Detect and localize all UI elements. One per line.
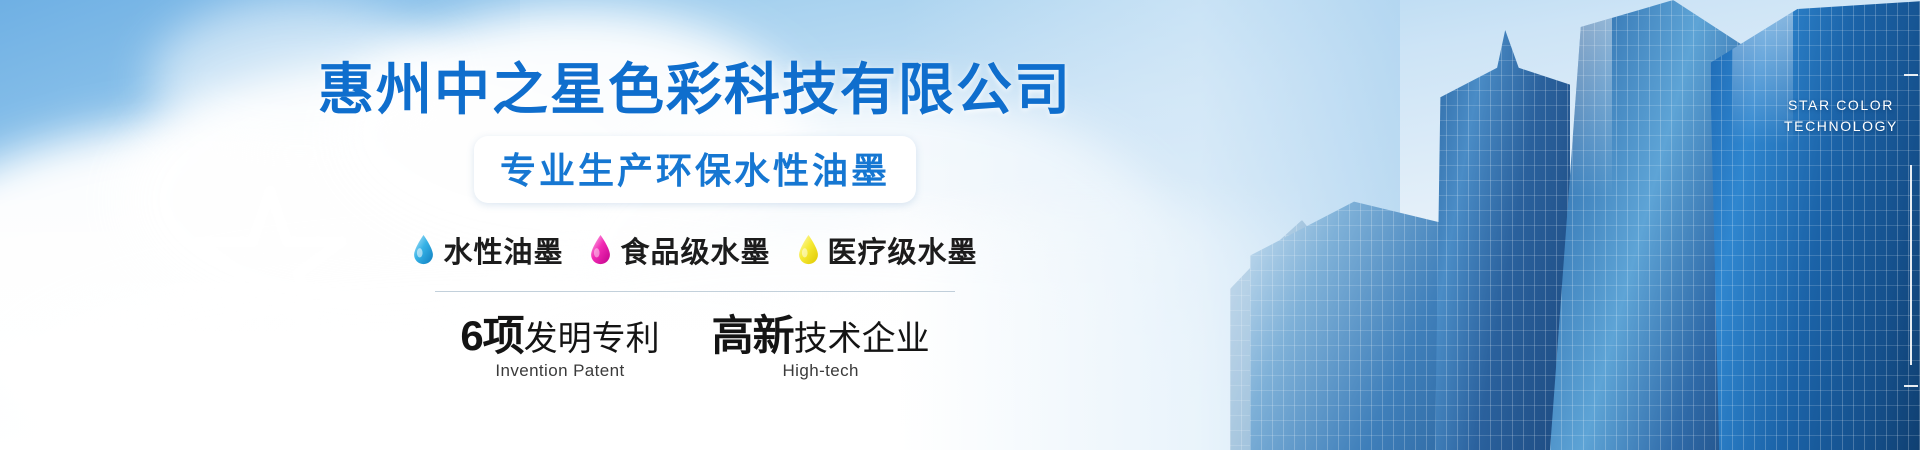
building-right-tower: [1710, 0, 1920, 450]
badge-subtitle: High-tech: [712, 361, 930, 381]
page-title: 惠州中之星色彩科技有限公司: [300, 58, 1090, 122]
badge-patent-text: 发明专利: [524, 320, 660, 358]
credential-badges: 6项发明专利 Invention Patent 高新技术企业 High-tech: [300, 314, 1090, 381]
list-item: 医疗级水墨: [797, 229, 978, 271]
badge-patent-count: 6项: [460, 312, 523, 359]
list-item-label: 食品级水墨: [620, 229, 770, 271]
badge-title: 6项发明专利: [460, 314, 659, 358]
list-item: 食品级水墨: [589, 229, 770, 271]
badge-hightech-strong: 高新: [712, 312, 794, 359]
list-item-label: 医疗级水墨: [828, 229, 978, 271]
water-drop-icon: [412, 234, 435, 266]
building-brand-overlay: STAR COLOR TECHNOLOGY: [1784, 95, 1898, 137]
badge-subtitle: Invention Patent: [460, 361, 659, 381]
building-brand-line-2: TECHNOLOGY: [1784, 116, 1898, 137]
banner-content: 惠州中之星色彩科技有限公司 专业生产环保水性油墨 水性油: [300, 0, 1090, 450]
subtitle-badge: 专业生产环保水性油墨: [474, 136, 916, 203]
badge-hightech-text: 技术企业: [794, 320, 930, 358]
water-drop-icon: [589, 234, 612, 266]
brand-tick-top: [1904, 74, 1918, 76]
list-item-label: 水性油墨: [443, 229, 563, 271]
brand-tick-bottom: [1904, 385, 1918, 387]
badge-title: 高新技术企业: [712, 314, 930, 358]
section-divider: [435, 291, 955, 292]
skyscraper-photo: STAR COLOR TECHNOLOGY: [1220, 0, 1920, 450]
brand-vertical-rule: [1910, 165, 1912, 365]
badge-high-tech: 高新技术企业 High-tech: [712, 314, 930, 381]
building-brand-line-1: STAR COLOR: [1784, 95, 1898, 116]
subtitle-row: 专业生产环保水性油墨: [300, 136, 1090, 203]
company-hero-banner: Star Color STAR COLOR TECHNOLOGY 惠州中之星色彩…: [0, 0, 1920, 450]
feature-list: 水性油墨 食品级水墨: [300, 229, 1090, 271]
list-item: 水性油墨: [412, 229, 563, 271]
badge-invention-patent: 6项发明专利 Invention Patent: [460, 314, 659, 381]
water-drop-icon: [797, 234, 820, 266]
building-mid-tower: [1435, 30, 1570, 450]
